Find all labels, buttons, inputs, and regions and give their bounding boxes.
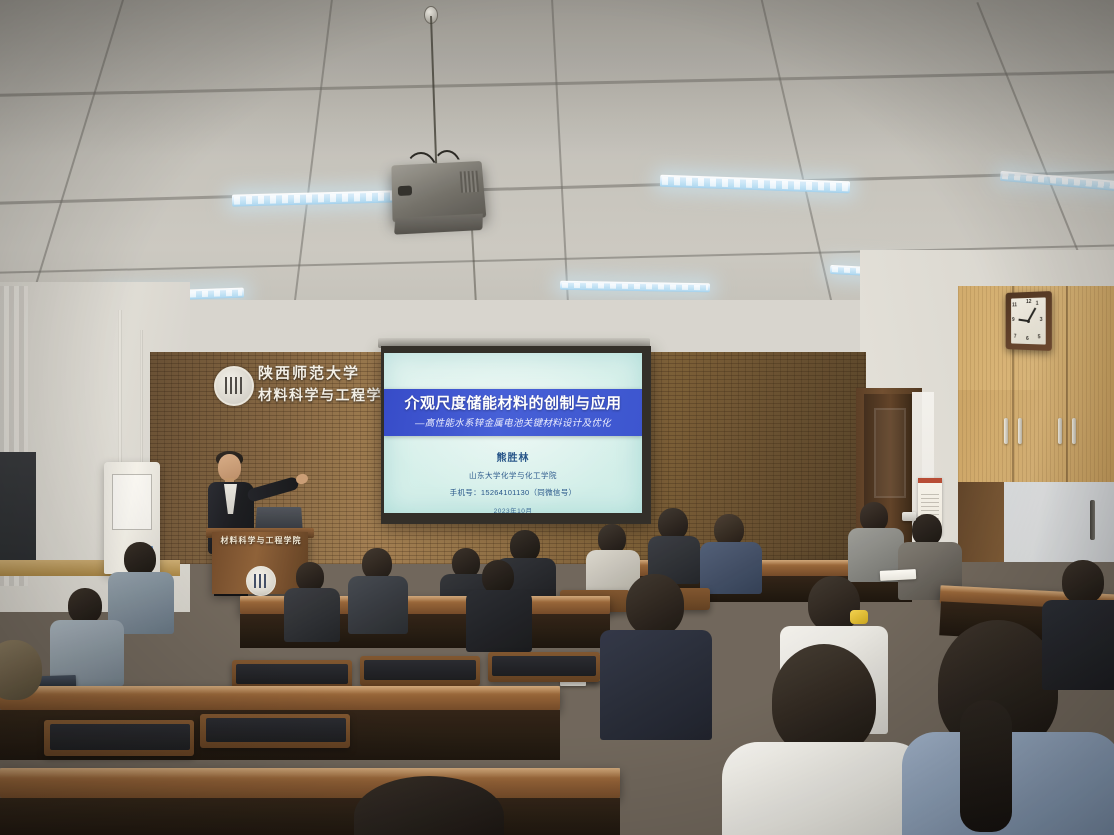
- slide-subtitle: —高性能水系锌金属电池关键材料设计及优化: [415, 415, 611, 429]
- papers-on-desk: [880, 569, 916, 581]
- seat-pad: [492, 656, 596, 676]
- seat-pad: [364, 660, 476, 680]
- slide-title-band: 介观尺度储能材料的创制与应用 —高性能水系锌金属电池关键材料设计及优化: [384, 389, 642, 436]
- lecture-hall-photo: 陕西师范大学 材料科学与工程学院 介观尺度储能材料的创制与应用 —高性能水系锌金…: [0, 0, 1114, 835]
- slide-body: 熊胜林 山东大学化学与化工学院 手机号：15264101130（同微信号） 20…: [384, 449, 642, 513]
- seat-pad: [236, 664, 348, 684]
- seat-pad: [206, 718, 346, 742]
- ac-pipe-1: [118, 310, 122, 470]
- lower-cabinets[interactable]: [958, 390, 1114, 485]
- cabinet-handle-2[interactable]: [1018, 418, 1022, 444]
- clock-face: 12 11 1 3 9 6 7 5: [1011, 297, 1046, 344]
- cabinet-handle-3[interactable]: [1058, 418, 1062, 444]
- desk-row-front: [0, 686, 560, 710]
- department-wall-sign: 陕西师范大学 材料科学与工程学院: [214, 362, 374, 414]
- lower-wall-wood: [958, 482, 1004, 562]
- presenter-head: [218, 454, 241, 481]
- sign-line-2: 材料科学与工程学院: [258, 385, 398, 405]
- slide-date: 2023年10月: [384, 505, 642, 513]
- slide-affiliation: 山东大学化学与化工学院: [384, 470, 642, 481]
- wall-clock: 12 11 1 3 9 6 7 5: [1006, 291, 1052, 351]
- door-panel: [874, 408, 906, 498]
- podium-emblem-icon: [246, 566, 276, 596]
- slide-title: 介观尺度储能材料的创制与应用: [404, 396, 621, 411]
- clock-center: [1027, 319, 1030, 322]
- cabinet-handle-5[interactable]: [1090, 500, 1095, 540]
- department-sign-text: 陕西师范大学 材料科学与工程学院: [258, 363, 398, 405]
- smartphone-camera: [902, 512, 916, 521]
- desk-row-foreground: [0, 768, 620, 798]
- podium-label: 材料科学与工程学院: [216, 535, 306, 546]
- ac-vent: [112, 474, 152, 530]
- projector-lens: [398, 186, 412, 196]
- cabinet-handle-4[interactable]: [1072, 418, 1076, 444]
- presenter-pointing-arm: [246, 476, 300, 503]
- ac-pipe-2: [140, 330, 143, 470]
- cabinet-handle-1[interactable]: [1004, 418, 1008, 444]
- slide-speaker-name: 熊胜林: [384, 449, 642, 464]
- seat-pad: [50, 724, 190, 750]
- projector-vent: [460, 171, 479, 193]
- slide-contact: 手机号：15264101130（同微信号）: [384, 487, 642, 498]
- sign-line-1: 陕西师范大学: [258, 363, 398, 385]
- university-emblem-icon: [214, 366, 254, 406]
- presentation-slide: 介观尺度储能材料的创制与应用 —高性能水系锌金属电池关键材料设计及优化 熊胜林 …: [384, 353, 642, 513]
- side-blackboard: [0, 452, 36, 568]
